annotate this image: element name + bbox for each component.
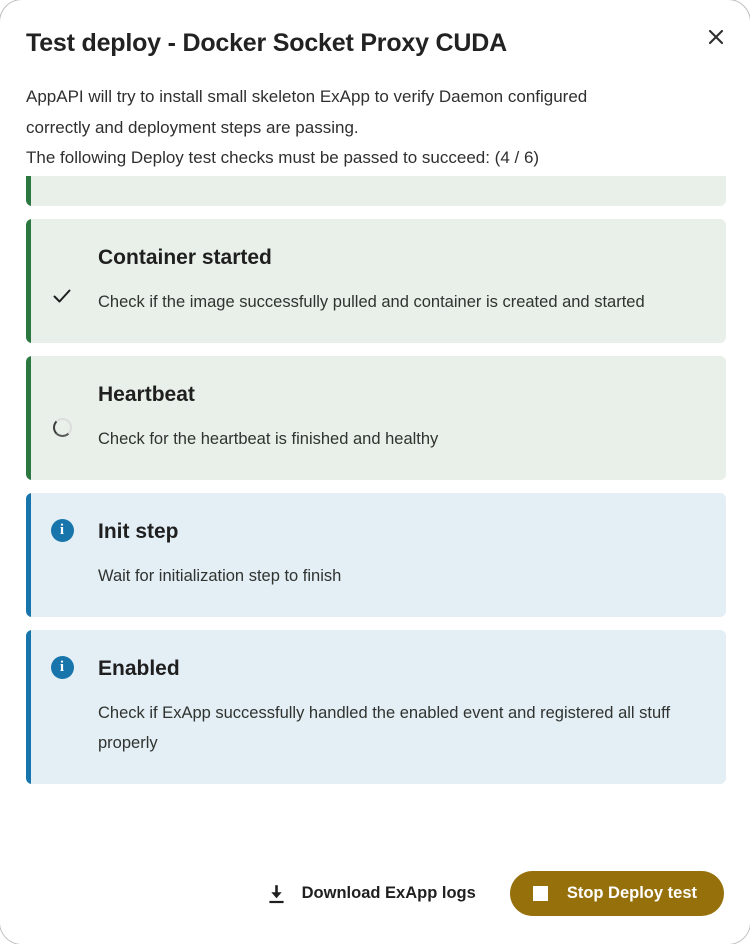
checks-scroll-area[interactable]: Image pulled Check if the image is succe… [0,176,750,851]
check-card-enabled: i Enabled Check if ExApp successfully ha… [26,630,726,784]
check-desc-init-step: Wait for initialization step to finish [98,561,698,591]
test-deploy-dialog: Test deploy - Docker Socket Proxy CUDA A… [0,0,750,944]
check-icon-wrap-container-started [26,285,98,307]
check-icon-wrap-heartbeat [26,418,98,437]
check-desc-container-started: Check if the image successfully pulled a… [98,287,698,317]
check-card-container-started: Container started Check if the image suc… [26,219,726,343]
description-line-3: The following Deploy test checks must be… [26,143,676,174]
download-exapp-logs-button[interactable]: Download ExApp logs [251,875,492,913]
check-desc-heartbeat: Check for the heartbeat is finished and … [98,424,698,454]
info-icon: i [51,656,74,679]
description-line-1: AppAPI will try to install small skeleto… [26,82,666,113]
close-icon[interactable] [698,19,734,55]
check-title-container-started: Container started [98,245,702,271]
check-card-init-step: i Init step Wait for initialization step… [26,493,726,617]
dialog-footer: Download ExApp logs Stop Deploy test [0,851,750,944]
loading-spinner-icon [53,418,72,437]
page-title: Test deploy - Docker Socket Proxy CUDA [26,26,722,60]
stop-deploy-test-button[interactable]: Stop Deploy test [510,871,724,916]
dialog-header: Test deploy - Docker Socket Proxy CUDA A… [0,0,750,174]
check-title-init-step: Init step [98,519,702,545]
stop-deploy-test-label: Stop Deploy test [567,884,697,903]
stop-square-icon [533,886,548,901]
check-icon-wrap-enabled: i [26,656,98,679]
checks-list: Image pulled Check if the image is succe… [0,176,750,784]
check-card-image-pulled: Image pulled Check if the image is succe… [26,176,726,206]
download-icon [267,884,286,904]
check-desc-image-pulled: Check if the image is successfully pulle… [98,176,698,180]
check-icon [51,285,73,307]
close-icon-glyph [706,27,726,47]
check-desc-enabled: Check if ExApp successfully handled the … [98,698,698,758]
check-title-enabled: Enabled [98,656,702,682]
check-card-heartbeat: Heartbeat Check for the heartbeat is fin… [26,356,726,480]
check-title-heartbeat: Heartbeat [98,382,702,408]
check-icon-wrap-init-step: i [26,519,98,542]
description-line-2: correctly and deployment steps are passi… [26,113,676,144]
dialog-description: AppAPI will try to install small skeleto… [26,82,676,174]
download-exapp-logs-label: Download ExApp logs [302,884,476,903]
info-icon: i [51,519,74,542]
